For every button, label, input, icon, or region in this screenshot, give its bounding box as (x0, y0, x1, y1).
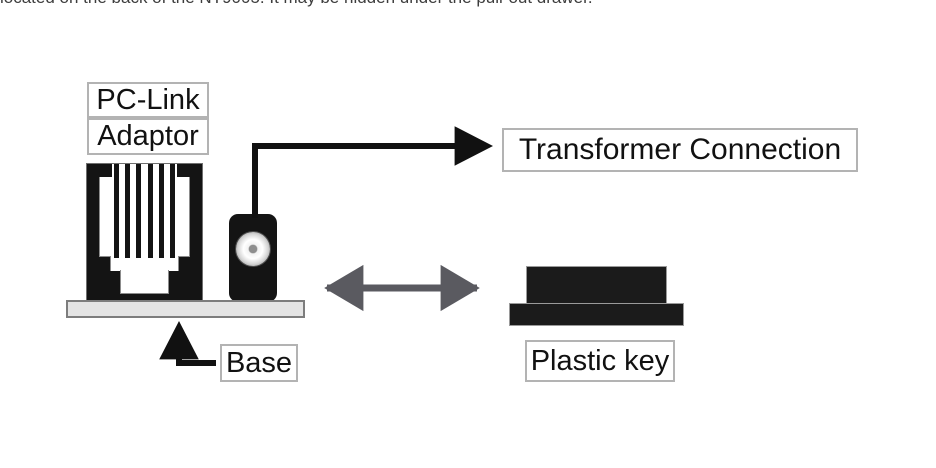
rj11-pin (136, 164, 141, 258)
rj11-cavity-middle (110, 256, 179, 271)
base-callout-arrow (179, 327, 216, 363)
rj11-pin (159, 164, 164, 258)
label-base: Base (220, 344, 298, 382)
label-transformer-connection: Transformer Connection (502, 128, 858, 172)
rj11-pin (170, 164, 175, 258)
label-plastic-key: Plastic key (525, 340, 675, 382)
label-pc-link: PC-Link (87, 82, 209, 118)
rj11-contact-pins (114, 164, 175, 258)
label-adaptor: Adaptor (87, 118, 209, 155)
transformer-socket-icon (236, 232, 270, 266)
rj11-pin (125, 164, 130, 258)
rj11-cavity-keyway (120, 270, 169, 294)
plastic-key-upper (526, 266, 667, 304)
rj11-jack-graphic (86, 163, 203, 301)
intro-paragraph-text: located on the back of the NT9005. It ma… (0, 0, 936, 9)
transformer-socket-block (229, 214, 277, 302)
rj11-pin (114, 164, 119, 258)
plastic-key-flange (509, 303, 684, 326)
plastic-key-graphic (509, 266, 684, 326)
base-plate-graphic (66, 300, 305, 318)
transformer-callout-arrow (255, 146, 487, 218)
rj11-pin (148, 164, 153, 258)
